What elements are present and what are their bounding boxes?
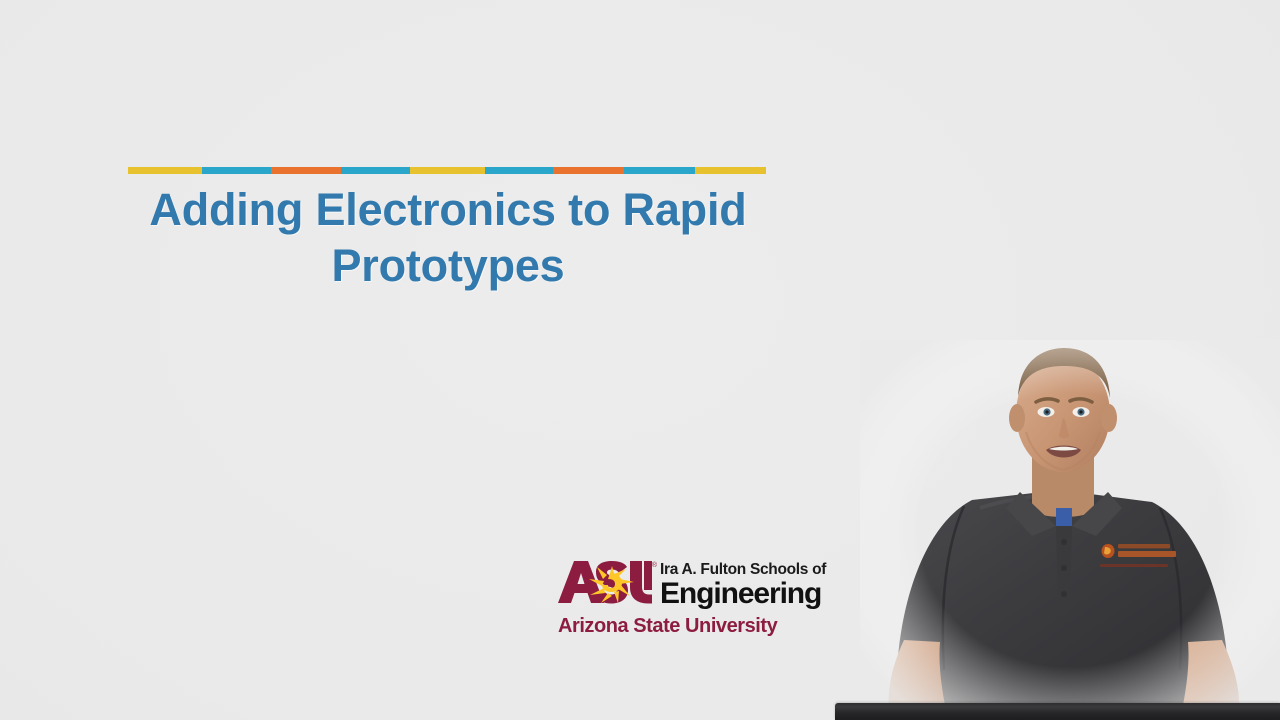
registered-trademark-mark: ®	[652, 562, 657, 569]
presenter-video-overlay	[860, 340, 1280, 720]
asu-sunburst-mark-icon: ®	[556, 560, 652, 604]
podium-surface	[835, 703, 1280, 720]
accent-bar-segment	[410, 167, 485, 174]
fulton-schools-line2: Engineering	[660, 578, 826, 609]
title-block: Adding Electronics to Rapid Prototypes	[128, 182, 768, 294]
accent-bar-segment	[485, 167, 553, 174]
accent-bar-segment	[695, 167, 766, 174]
accent-bar-segment	[202, 167, 271, 174]
accent-bar	[128, 167, 766, 174]
asu-logo-top-row: ® Ira A. Fulton Schools of Engineering	[556, 560, 868, 609]
title-slide: Adding Electronics to Rapid Prototypes	[0, 0, 1280, 720]
arizona-state-university-line: Arizona State University	[558, 615, 868, 637]
accent-bar-segment	[341, 167, 410, 174]
accent-bar-segment	[553, 167, 624, 174]
accent-bar-segment	[624, 167, 695, 174]
accent-bar-segment	[128, 167, 202, 174]
page-title: Adding Electronics to Rapid Prototypes	[128, 182, 768, 294]
fulton-schools-line1: Ira A. Fulton Schools of	[660, 561, 826, 578]
accent-bar-segment	[271, 167, 341, 174]
asu-logo: ® Ira A. Fulton Schools of Engineering A…	[556, 560, 868, 637]
fulton-schools-wordmark: Ira A. Fulton Schools of Engineering	[660, 560, 826, 609]
